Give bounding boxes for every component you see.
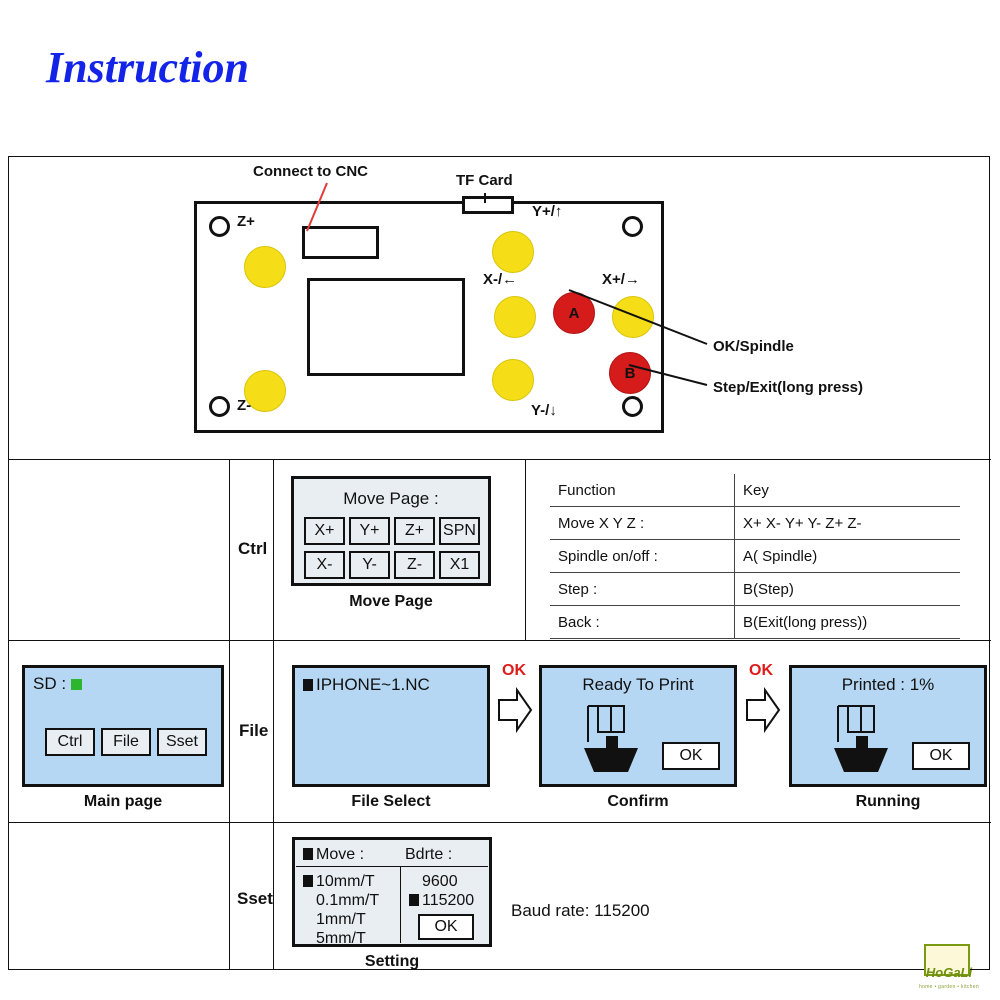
move-button-zminus[interactable]: Z-: [394, 551, 435, 579]
printer-icon: [580, 702, 652, 778]
move-button-xminus[interactable]: X-: [304, 551, 345, 579]
zplus-label: Z+: [237, 213, 255, 230]
selection-marker-icon: [303, 679, 313, 691]
yplus-button[interactable]: [492, 231, 534, 273]
move-button-yplus[interactable]: Y+: [349, 517, 390, 545]
a-button[interactable]: A: [553, 292, 595, 334]
table-header-function: Function: [550, 474, 735, 507]
baud-option-0[interactable]: 9600: [409, 872, 474, 891]
table-cell-function: Step :: [550, 573, 735, 606]
cnc-connector-icon: [302, 226, 379, 259]
file-name: IPHONE~1.NC: [316, 675, 430, 694]
arrow-right-icon: [745, 686, 781, 738]
table-cell-key: B(Step): [735, 573, 961, 606]
setting-move-title-text: Move :: [316, 846, 364, 863]
printer-icon: [830, 702, 902, 778]
key-function-table: Function Key Move X Y Z : X+ X- Y+ Y- Z+…: [550, 474, 960, 639]
xplus-button[interactable]: [612, 296, 654, 338]
setting-screen: Move : Bdrte : 10mm/T 0.1mm/T 1mm/T 5mm/…: [292, 837, 492, 947]
instruction-frame: A B Z+ Z- Y+/↑ Y-/↓ X-/← X+/→ Connect to…: [8, 156, 990, 970]
running-screen: Printed : 1% OK: [789, 665, 987, 787]
move-button-yminus[interactable]: Y-: [349, 551, 390, 579]
zminus-label: Z-: [237, 397, 251, 414]
move-button-x1[interactable]: X1: [439, 551, 480, 579]
setting-ok-button[interactable]: OK: [418, 914, 474, 940]
arrow-right-icon: [497, 686, 533, 738]
ctrl-row: Ctrl Move Page : X+ Y+ Z+ SPN X- Y- Z- X…: [9, 460, 991, 641]
divider: [296, 866, 488, 867]
watermark: HoGaLi home • garden • kitchen: [912, 944, 986, 990]
confirm-caption: Confirm: [539, 793, 737, 811]
b-button[interactable]: B: [609, 352, 651, 394]
table-header-key: Key: [735, 474, 961, 507]
watermark-name: HoGaLi: [912, 965, 986, 980]
step-exit-label: Step/Exit(long press): [713, 379, 863, 396]
tf-card-label: TF Card: [456, 172, 513, 189]
mount-hole-icon: [209, 396, 230, 417]
b-button-label: B: [610, 353, 650, 393]
main-page-screen: SD : Ctrl File Sset: [22, 665, 224, 787]
table-cell-key: B(Exit(long press)): [735, 606, 961, 639]
sd-status-indicator: [71, 679, 82, 690]
sset-row-label: Sset: [237, 889, 273, 909]
file-row: File SD : Ctrl File Sset Main page IPHON…: [9, 641, 991, 823]
ok-transition-label-2: OK: [749, 662, 773, 680]
table-row: Spindle on/off : A( Spindle): [550, 540, 960, 573]
move-page-caption: Move Page: [291, 593, 491, 611]
connect-cnc-label: Connect to CNC: [253, 163, 368, 180]
divider: [400, 866, 401, 943]
tf-card-slot-icon: [462, 196, 514, 214]
move-page-title: Move Page :: [294, 489, 488, 509]
zplus-button[interactable]: [244, 246, 286, 288]
table-row: Move X Y Z : X+ X- Y+ Y- Z+ Z-: [550, 507, 960, 540]
board-display-area: [307, 278, 465, 376]
page-title: Instruction: [46, 42, 249, 93]
yplus-label: Y+/↑: [532, 203, 562, 220]
selection-marker-icon: [303, 875, 313, 887]
sd-status: SD :: [33, 674, 82, 694]
mount-hole-icon: [622, 216, 643, 237]
table-cell-key: X+ X- Y+ Y- Z+ Z-: [735, 507, 961, 540]
confirm-screen: Ready To Print OK: [539, 665, 737, 787]
setting-baud-title: Bdrte :: [405, 846, 452, 864]
main-button-file[interactable]: File: [101, 728, 151, 756]
running-caption: Running: [789, 793, 987, 811]
table-cell-key: A( Spindle): [735, 540, 961, 573]
selection-marker-icon: [303, 848, 313, 860]
baud-rate-note: Baud rate: 115200: [511, 901, 650, 921]
board-diagram-panel: A B Z+ Z- Y+/↑ Y-/↓ X-/← X+/→ Connect to…: [9, 157, 991, 460]
mount-hole-icon: [209, 216, 230, 237]
move-option-1[interactable]: 0.1mm/T: [303, 891, 379, 910]
yminus-button[interactable]: [492, 359, 534, 401]
table-row: Step : B(Step): [550, 573, 960, 606]
running-ok-button[interactable]: OK: [912, 742, 970, 770]
xminus-label: X-/←: [483, 271, 517, 288]
confirm-ok-button[interactable]: OK: [662, 742, 720, 770]
table-row: Back : B(Exit(long press)): [550, 606, 960, 639]
move-button-zplus[interactable]: Z+: [394, 517, 435, 545]
file-select-caption: File Select: [292, 793, 490, 811]
table-cell-function: Move X Y Z :: [550, 507, 735, 540]
move-option-0[interactable]: 10mm/T: [303, 872, 379, 891]
move-button-xplus[interactable]: X+: [304, 517, 345, 545]
selection-marker-icon: [409, 894, 419, 906]
ctrl-row-label: Ctrl: [238, 539, 267, 559]
table-row: Function Key: [550, 474, 960, 507]
move-button-spn[interactable]: SPN: [439, 517, 480, 545]
sd-label: SD :: [33, 674, 66, 693]
setting-caption: Setting: [292, 953, 492, 971]
yminus-label: Y-/↓: [531, 402, 557, 419]
move-option-2[interactable]: 1mm/T: [303, 910, 379, 929]
watermark-sub: home • garden • kitchen: [912, 984, 986, 990]
ok-transition-label-1: OK: [502, 662, 526, 680]
baud-option-1[interactable]: 115200: [409, 891, 474, 910]
file-select-screen: IPHONE~1.NC: [292, 665, 490, 787]
a-button-label: A: [554, 293, 594, 333]
xminus-button[interactable]: [494, 296, 536, 338]
move-page-screen: Move Page : X+ Y+ Z+ SPN X- Y- Z- X1: [291, 476, 491, 586]
file-select-entry[interactable]: IPHONE~1.NC: [303, 675, 430, 695]
xplus-label: X+/→: [602, 271, 640, 288]
ok-spindle-label: OK/Spindle: [713, 338, 794, 355]
move-option-3[interactable]: 5mm/T: [303, 929, 379, 948]
running-title: Printed : 1%: [792, 675, 984, 695]
main-page-caption: Main page: [22, 793, 224, 811]
sset-row: Sset Move : Bdrte : 10mm/T 0.1mm/T 1mm/T…: [9, 823, 991, 969]
file-row-label: File: [239, 721, 268, 741]
table-cell-function: Spindle on/off :: [550, 540, 735, 573]
main-button-sset[interactable]: Sset: [157, 728, 207, 756]
table-cell-function: Back :: [550, 606, 735, 639]
mount-hole-icon: [622, 396, 643, 417]
controller-board: A B Z+ Z- Y+/↑ Y-/↓ X-/← X+/→: [194, 201, 664, 433]
confirm-title: Ready To Print: [542, 675, 734, 695]
setting-move-title: Move :: [303, 846, 364, 864]
main-button-ctrl[interactable]: Ctrl: [45, 728, 95, 756]
